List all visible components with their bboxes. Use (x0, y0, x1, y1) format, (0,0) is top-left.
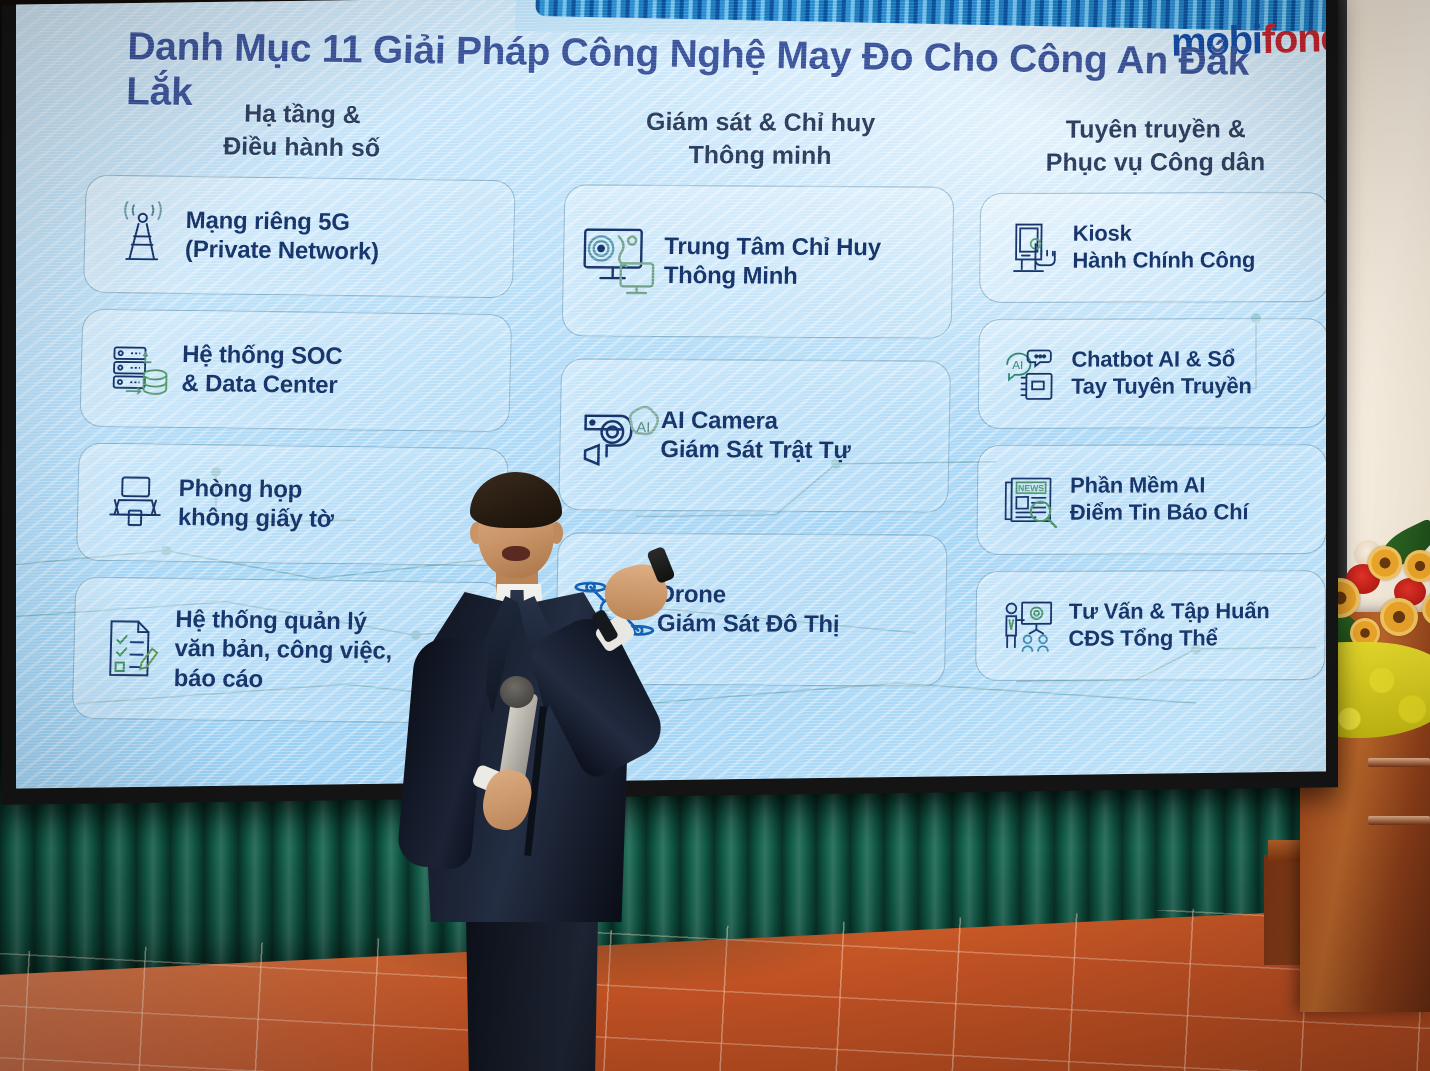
card-news-ai[interactable]: NEWS Phần Mềm AI Điểm Tin Báo Chí (976, 444, 1326, 555)
speaker-mouth (502, 546, 530, 561)
card-command-center-text: Trung Tâm Chỉ Huy Thông Minh (663, 232, 881, 292)
svg-text:NEWS: NEWS (1018, 483, 1044, 493)
card-chatbot-ai[interactable]: AI Chatbot AI & Sổ Tay Tuy (978, 318, 1326, 429)
speaker-presenter (400, 470, 700, 1050)
column-3-heading: Tuyên truyền & Phục vụ Công dân (980, 113, 1326, 179)
document-checklist-icon (88, 615, 176, 682)
card-chatbot-ai-text: Chatbot AI & Sổ Tay Tuyên Truyền (1071, 346, 1252, 400)
svg-text:AI: AI (1012, 359, 1023, 372)
paperless-meeting-icon (92, 469, 180, 536)
card-news-ai-text: Phần Mềm AI Điểm Tin Báo Chí (1070, 472, 1249, 526)
column-3-heading-line1: Tuyên truyền & (981, 113, 1326, 146)
card-document-management-text: Hệ thống quản lý văn bản, công việc, báo… (173, 605, 393, 696)
column-2-heading-line1: Giám sát & Chỉ huy (565, 105, 956, 140)
column-2-heading: Giám sát & Chỉ huy Thông minh (565, 105, 956, 172)
column-1-heading: Hạ tầng & Điều hành số (86, 96, 518, 167)
antenna-tower-icon (99, 201, 187, 268)
speaker-hair (470, 472, 562, 528)
command-center-monitor-icon (577, 217, 665, 304)
column-communication-citizen: Tuyên truyền & Phục vụ Công dân (975, 113, 1326, 697)
ai-cctv-camera-icon: AI (574, 391, 662, 478)
kiosk-touch-icon (994, 217, 1073, 279)
card-kiosk-text: Kiosk Hành Chính Công (1072, 220, 1255, 274)
training-presenter-icon (990, 595, 1069, 657)
column-1-heading-line2: Điều hành số (86, 128, 517, 166)
column-2-heading-line2: Thông minh (565, 138, 956, 173)
card-private-5g-text: Mạng riêng 5G (Private Network) (185, 206, 380, 267)
card-soc-datacenter[interactable]: Hệ thống SOC & Data Center (79, 309, 512, 433)
svg-text:AI: AI (636, 420, 650, 436)
card-paperless-meeting-text: Phòng họp không giấy tờ (178, 474, 335, 535)
server-database-icon (95, 335, 183, 402)
chatbot-ai-notebook-icon: AI (993, 343, 1072, 405)
card-consulting-training-text: Tư Vấn & Tập Huấn CĐS Tổng Thể (1068, 598, 1269, 652)
card-ai-camera-text: AI Camera Giám Sát Trật Tự (660, 406, 851, 466)
card-kiosk[interactable]: Kiosk Hành Chính Công (979, 192, 1326, 303)
presentation-stage-photo: mobifone Danh Mục 11 Giải Pháp Công Nghệ… (0, 0, 1430, 1071)
card-consulting-training[interactable]: Tư Vấn & Tập Huấn CĐS Tổng Thể (975, 570, 1326, 681)
card-command-center[interactable]: Trung Tâm Chỉ Huy Thông Minh (562, 184, 955, 338)
card-private-5g[interactable]: Mạng riêng 5G (Private Network) (83, 175, 516, 299)
news-magnifier-icon: NEWS (992, 469, 1071, 531)
card-soc-datacenter-text: Hệ thống SOC & Data Center (181, 340, 343, 401)
column-3-heading-line2: Phục vụ Công dân (980, 146, 1326, 179)
